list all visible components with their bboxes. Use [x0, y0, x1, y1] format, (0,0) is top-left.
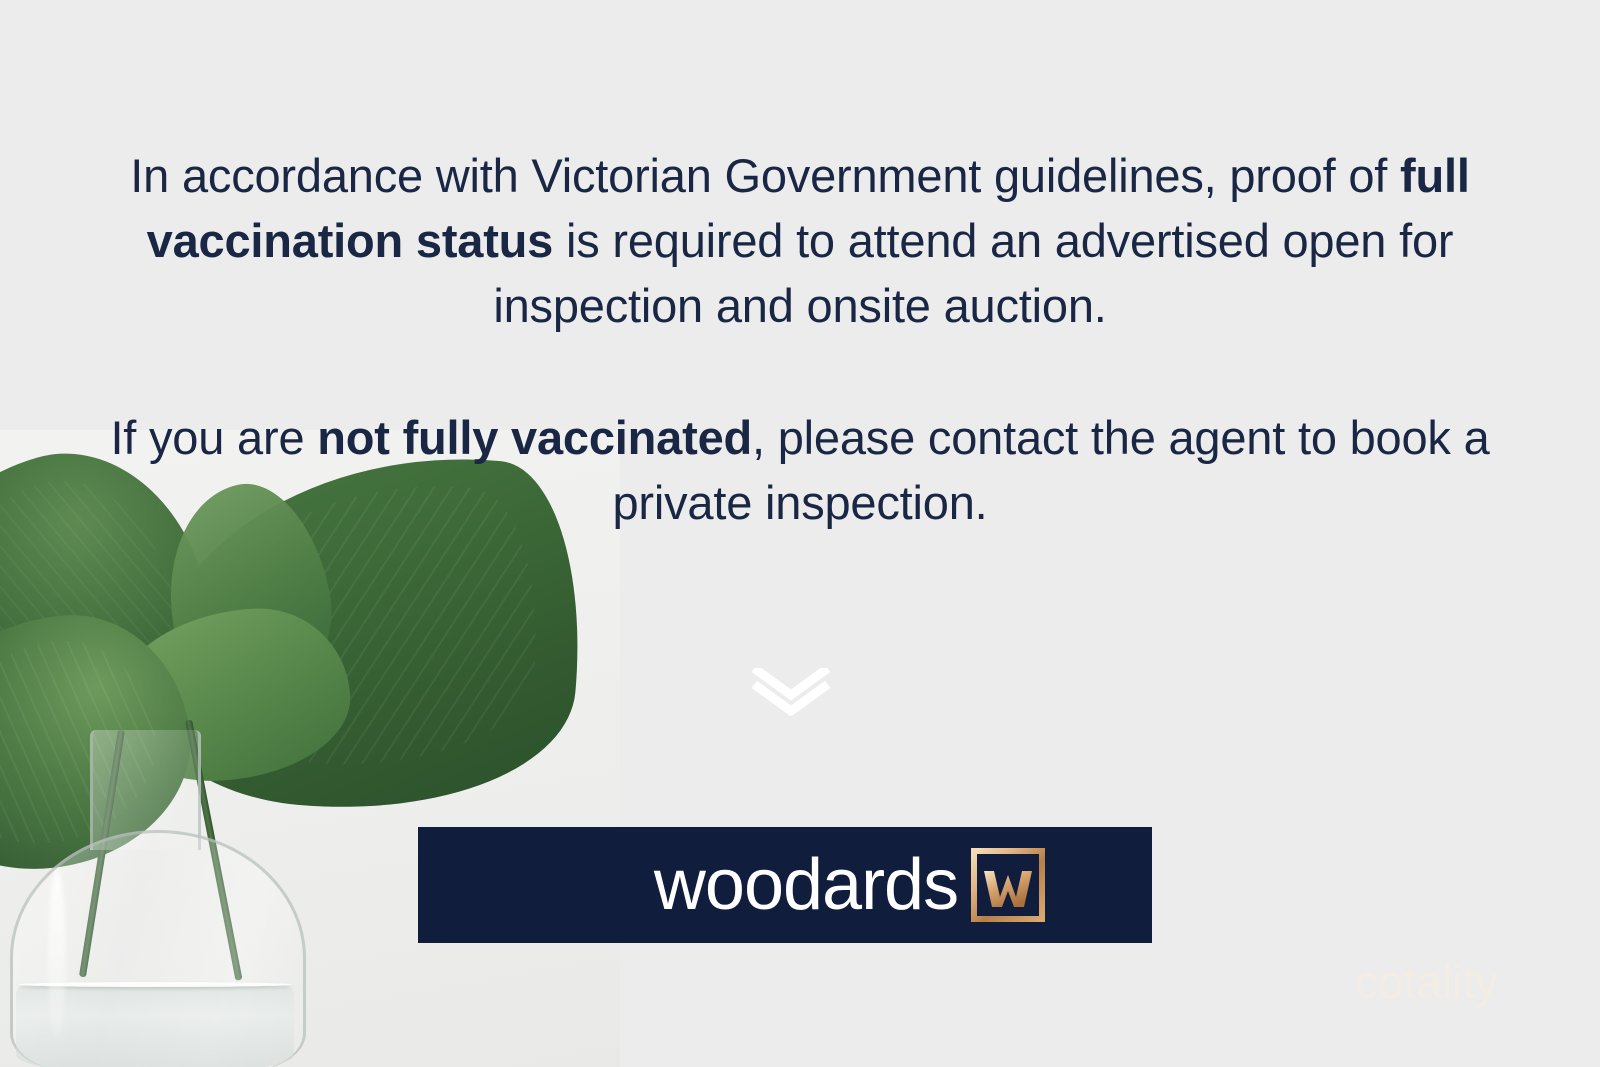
woodards-wordmark: woodards — [654, 849, 958, 921]
paragraph-private-inspection: If you are not fully vaccinated, please … — [0, 405, 1600, 535]
woodards-w-emblem-icon — [968, 845, 1048, 925]
promo-slide: In accordance with Victorian Government … — [0, 0, 1600, 1067]
woodards-logo[interactable]: woodards — [418, 827, 1152, 943]
paragraph-2-emphasis: not fully vaccinated — [317, 411, 752, 464]
cotality-watermark: cotality — [1355, 955, 1498, 1009]
logo-inner: woodards — [654, 845, 1048, 925]
double-chevron-down-icon[interactable] — [751, 668, 831, 716]
paragraph-vaccination-requirement: In accordance with Victorian Government … — [0, 143, 1600, 338]
paragraph-1-tail: is required to attend an advertised open… — [493, 214, 1453, 332]
vase-highlight — [48, 870, 66, 1040]
paragraph-1-lead: In accordance with Victorian Government … — [130, 149, 1400, 202]
paragraph-2-lead: If you are — [110, 411, 317, 464]
glass-vase — [10, 730, 300, 1067]
